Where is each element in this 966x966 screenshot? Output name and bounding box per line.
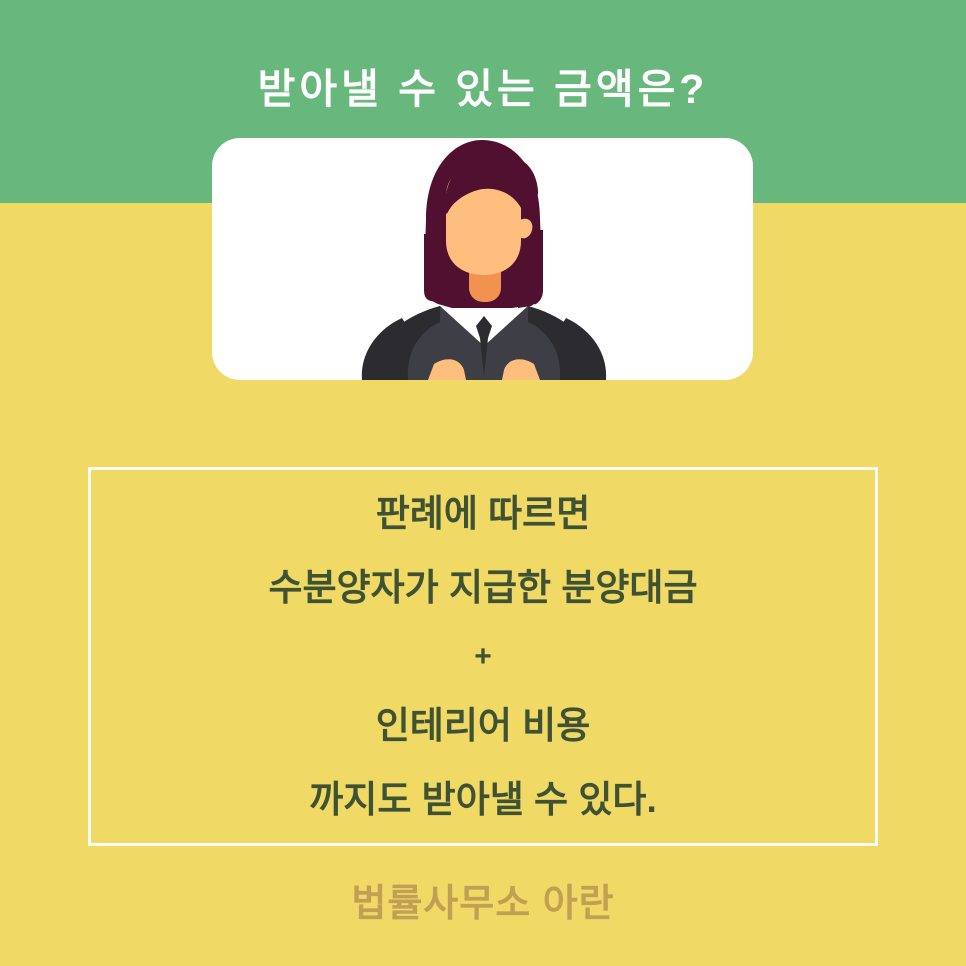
message-line-3: 인테리어 비용 (376, 689, 591, 763)
message-line-2: 수분양자가 지급한 분양대금 (268, 551, 697, 625)
message-lines: 판례에 따르면 수분양자가 지급한 분양대금 + 인테리어 비용 까지도 받아낼… (91, 470, 875, 843)
female-lawyer-illustration (212, 138, 753, 380)
message-box: 판례에 따르면 수분양자가 지급한 분양대금 + 인테리어 비용 까지도 받아낼… (88, 467, 878, 846)
message-line-4: 까지도 받아낼 수 있다. (309, 763, 656, 837)
message-line-plus: + (474, 625, 492, 689)
promo-card: 받아낼 수 있는 금액은? (0, 0, 966, 966)
law-firm-name: 법률사무소 아란 (0, 872, 966, 927)
message-line-1: 판례에 따르면 (376, 477, 591, 551)
illustration-card (212, 138, 753, 380)
page-title: 받아낼 수 있는 금액은? (0, 66, 966, 112)
